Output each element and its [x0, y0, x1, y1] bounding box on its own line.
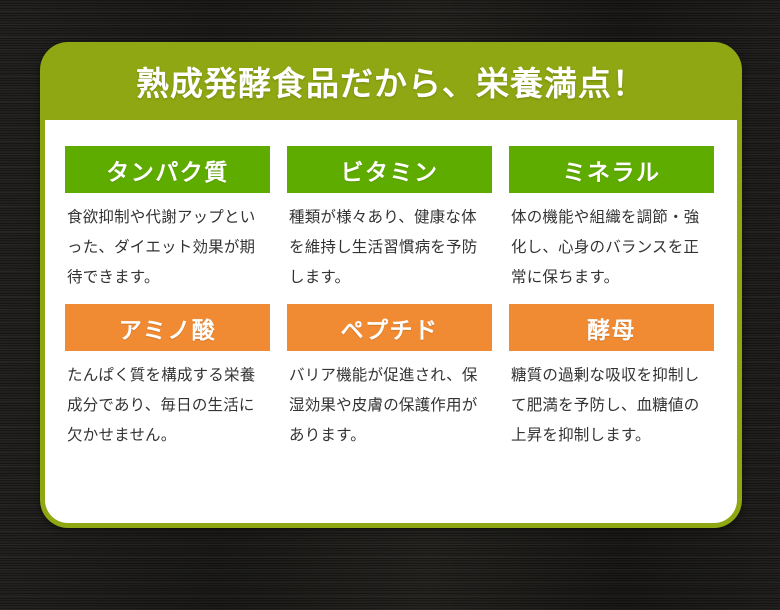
- nutrient-card-title: アミノ酸: [65, 304, 270, 351]
- page-title: 熟成発酵食品だから、栄養満点！: [40, 42, 742, 120]
- nutrient-card-description: たんぱく質を構成する栄養成分であり、毎日の生活に欠かせません。: [65, 361, 270, 451]
- nutrient-card-description: 糖質の過剰な吸収を抑制して肥満を予防し、血糖値の上昇を抑制します。: [509, 361, 714, 451]
- panel-content: タンパク質 食欲抑制や代謝アップといった、ダイエット効果が期待できます。 ビタミ…: [45, 120, 737, 523]
- nutrient-card-mineral: ミネラル 体の機能や組織を調節・強化し、心身のバランスを正常に保ちます。: [509, 146, 714, 293]
- nutrient-card-description: 体の機能や組織を調節・強化し、心身のバランスを正常に保ちます。: [509, 203, 714, 293]
- nutrient-card-amino-acid: アミノ酸 たんぱく質を構成する栄養成分であり、毎日の生活に欠かせません。: [65, 304, 270, 451]
- nutrient-card-protein: タンパク質 食欲抑制や代謝アップといった、ダイエット効果が期待できます。: [65, 146, 270, 293]
- nutrient-card-peptide: ペプチド バリア機能が促進され、保湿効果や皮膚の保護作用があります。: [287, 304, 492, 451]
- nutrient-card-title: ビタミン: [287, 146, 492, 193]
- nutrient-card-title: ペプチド: [287, 304, 492, 351]
- nutrient-card-grid: タンパク質 食欲抑制や代謝アップといった、ダイエット効果が期待できます。 ビタミ…: [65, 146, 717, 451]
- nutrient-card-description: 種類が様々あり、健康な体を維持し生活習慣病を予防します。: [287, 203, 492, 293]
- nutrient-card-description: 食欲抑制や代謝アップといった、ダイエット効果が期待できます。: [65, 203, 270, 293]
- nutrient-card-description: バリア機能が促進され、保湿効果や皮膚の保護作用があります。: [287, 361, 492, 451]
- nutrient-card-title: 酵母: [509, 304, 714, 351]
- nutrient-card-vitamin: ビタミン 種類が様々あり、健康な体を維持し生活習慣病を予防します。: [287, 146, 492, 293]
- nutrient-card-yeast: 酵母 糖質の過剰な吸収を抑制して肥満を予防し、血糖値の上昇を抑制します。: [509, 304, 714, 451]
- nutrient-card-title: タンパク質: [65, 146, 270, 193]
- nutrient-card-title: ミネラル: [509, 146, 714, 193]
- nutrition-panel: 熟成発酵食品だから、栄養満点！ タンパク質 食欲抑制や代謝アップといった、ダイエ…: [40, 42, 742, 528]
